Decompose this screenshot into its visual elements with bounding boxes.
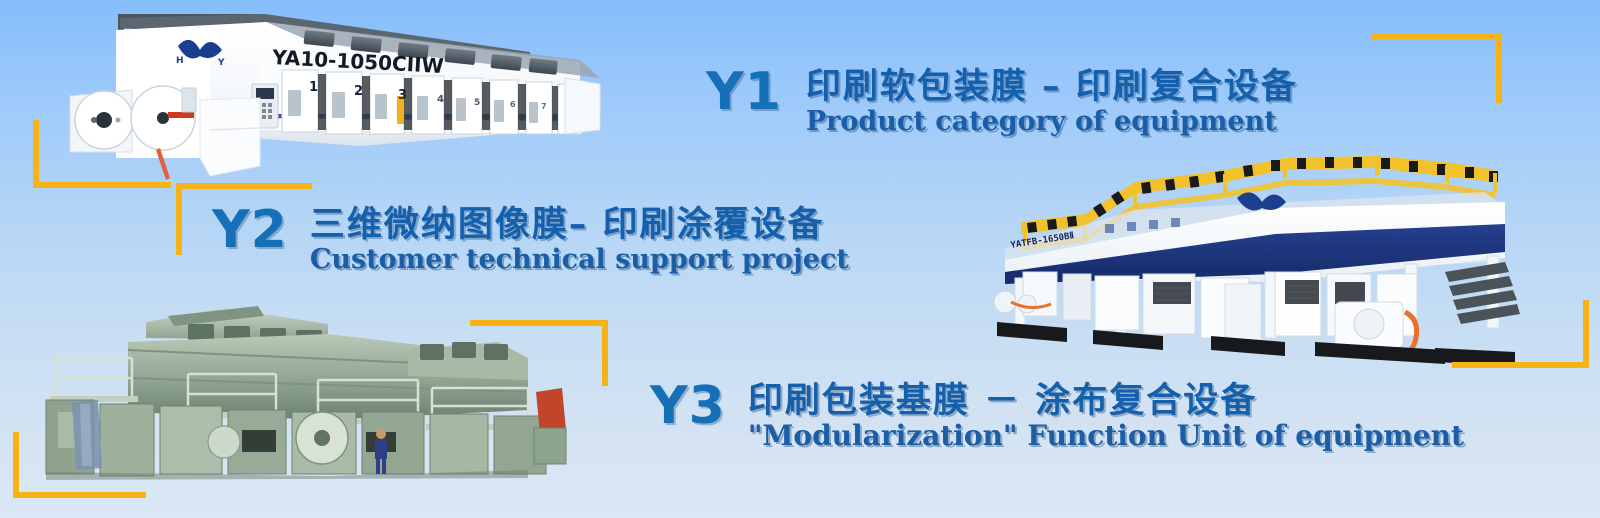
- bracket-right-vertical: [1583, 300, 1589, 368]
- bracket-mid-vertical: [602, 320, 608, 386]
- entry-y1-chinese: 印刷软包装膜 – 印刷复合设备: [806, 68, 1298, 107]
- svg-text:H: H: [176, 56, 184, 66]
- bracket-y2-top-vertical: [176, 183, 182, 255]
- entry-y1: Y1 印刷软包装膜 – 印刷复合设备 Product category of e…: [706, 68, 1298, 136]
- unit-number-5: 5: [474, 98, 480, 108]
- bracket-y2-top-horizontal: [176, 183, 312, 189]
- bracket-bottom-left-vertical: [13, 432, 19, 498]
- bracket-bottom-left-horizontal: [13, 492, 146, 498]
- unit-number-7: 7: [541, 102, 547, 111]
- entry-y3: Y3 印刷包装基膜 － 涂布复合设备 "Modularization" Func…: [650, 382, 1464, 451]
- entry-y3-chinese: 印刷包装基膜 － 涂布复合设备: [748, 382, 1464, 421]
- bracket-left-top-horizontal: [33, 182, 171, 188]
- unit-number-6: 6: [510, 100, 516, 109]
- entry-y2-code: Y2: [212, 206, 288, 255]
- banner-root: 1 2 3 4 5 6 7 8: [0, 0, 1600, 518]
- entry-y2-english: Customer technical support project: [310, 245, 849, 274]
- machine-photo-coating-laminating-machine: YATFB-1650BⅡ: [975, 152, 1520, 370]
- entry-y3-english: "Modularization" Function Unit of equipm…: [748, 421, 1464, 451]
- entry-y2-chinese: 三维微纳图像膜– 印刷涂覆设备: [310, 206, 849, 245]
- unit-number-4: 4: [437, 94, 444, 105]
- unit-number-1: 1: [309, 80, 318, 95]
- unit-number-3: 3: [398, 88, 407, 103]
- entry-y2-text: 三维微纳图像膜– 印刷涂覆设备 Customer technical suppo…: [310, 206, 849, 274]
- entry-y2: Y2 三维微纳图像膜– 印刷涂覆设备 Customer technical su…: [212, 206, 849, 274]
- svg-text:Y: Y: [217, 58, 225, 68]
- entry-y3-text: 印刷包装基膜 － 涂布复合设备 "Modularization" Functio…: [748, 382, 1464, 451]
- unit-number-2: 2: [354, 84, 363, 99]
- bracket-mid-horizontal: [470, 320, 608, 326]
- bracket-right-horizontal: [1452, 362, 1589, 368]
- machine-photo-rotogravure-printing-press: 1 2 3 4 5 6 7 8: [60, 8, 605, 180]
- bracket-left-top-vertical: [33, 120, 39, 188]
- machine-photo-base-film-coating-line: [28, 300, 573, 485]
- entry-y1-text: 印刷软包装膜 – 印刷复合设备 Product category of equi…: [806, 68, 1298, 136]
- bracket-top-right-vertical: [1496, 33, 1502, 103]
- entry-y1-english: Product category of equipment: [806, 107, 1298, 136]
- entry-y3-code: Y3: [650, 382, 726, 431]
- bracket-top-right-horizontal: [1372, 33, 1502, 39]
- entry-y1-code: Y1: [706, 68, 782, 117]
